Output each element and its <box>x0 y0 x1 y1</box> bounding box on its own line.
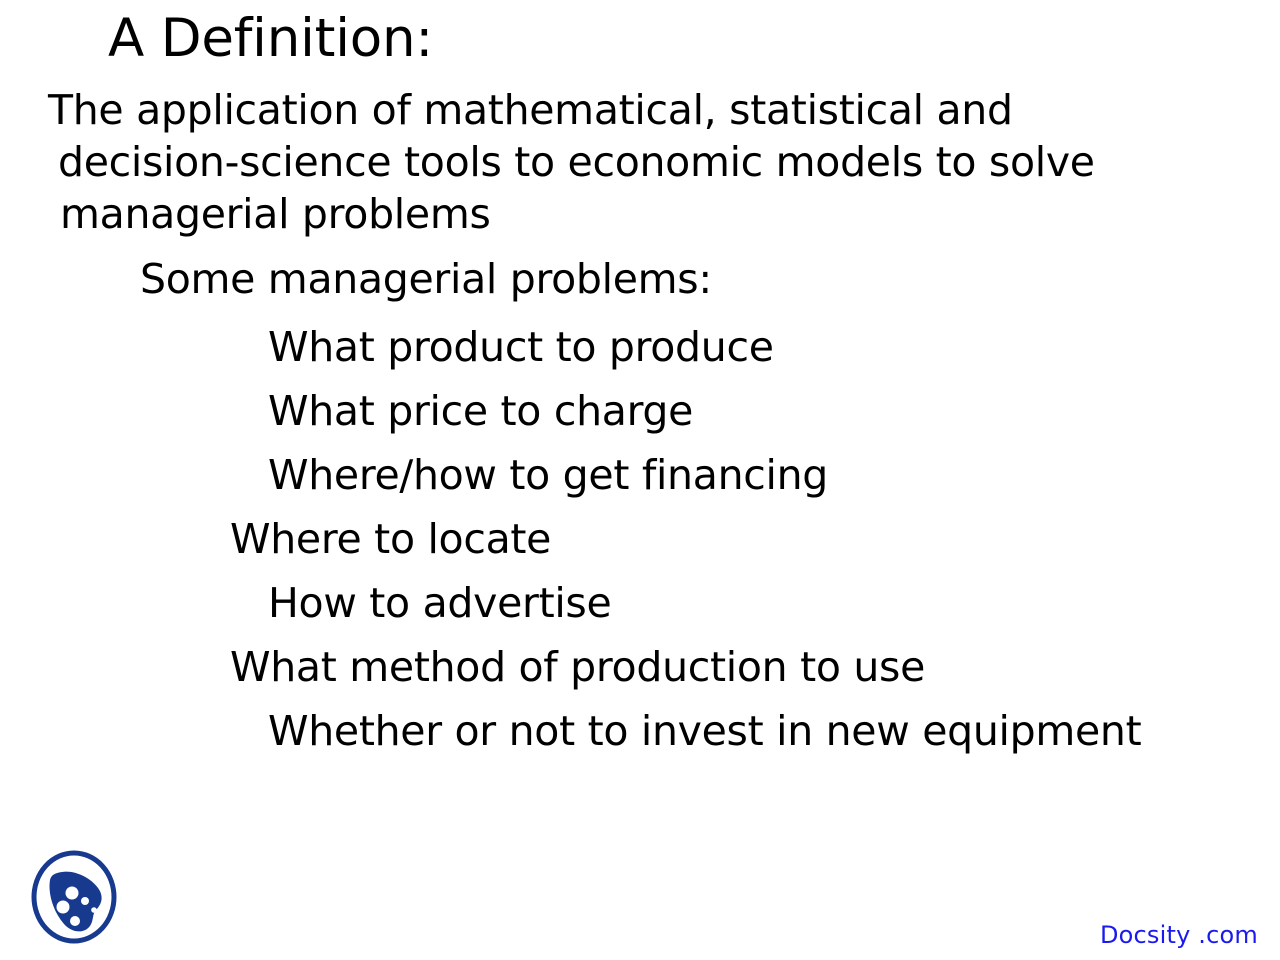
definition-line-2: decision-science tools to economic model… <box>0 136 1280 188</box>
logo-dot <box>91 907 97 913</box>
definition-line-1: The application of mathematical, statist… <box>0 84 1280 136</box>
definition-paragraph: The application of mathematical, statist… <box>0 84 1280 240</box>
list-item: What product to produce <box>0 315 1280 379</box>
problems-subheading: Some managerial problems: <box>0 253 1280 305</box>
logo-dot <box>57 901 70 914</box>
definition-line-3: managerial problems <box>0 188 1280 240</box>
list-item: Where/how to get financing <box>0 443 1280 507</box>
page-title: A Definition: <box>108 8 433 70</box>
list-item: How to advertise <box>0 571 1280 635</box>
list-item: Where to locate <box>0 507 1280 571</box>
list-item: What method of production to use <box>0 635 1280 699</box>
problems-list: What product to produce What price to ch… <box>0 315 1280 763</box>
logo-dot <box>66 887 79 900</box>
logo-dot <box>81 897 89 905</box>
slide-canvas: A Definition: The application of mathema… <box>0 0 1280 960</box>
slide-body: The application of mathematical, statist… <box>0 84 1280 763</box>
docsity-logo <box>28 848 120 946</box>
list-item: Whether or not to invest in new equipmen… <box>0 699 1280 763</box>
list-item: What price to charge <box>0 379 1280 443</box>
brand-watermark: Docsity .com <box>1100 920 1258 950</box>
logo-dot <box>70 916 80 926</box>
